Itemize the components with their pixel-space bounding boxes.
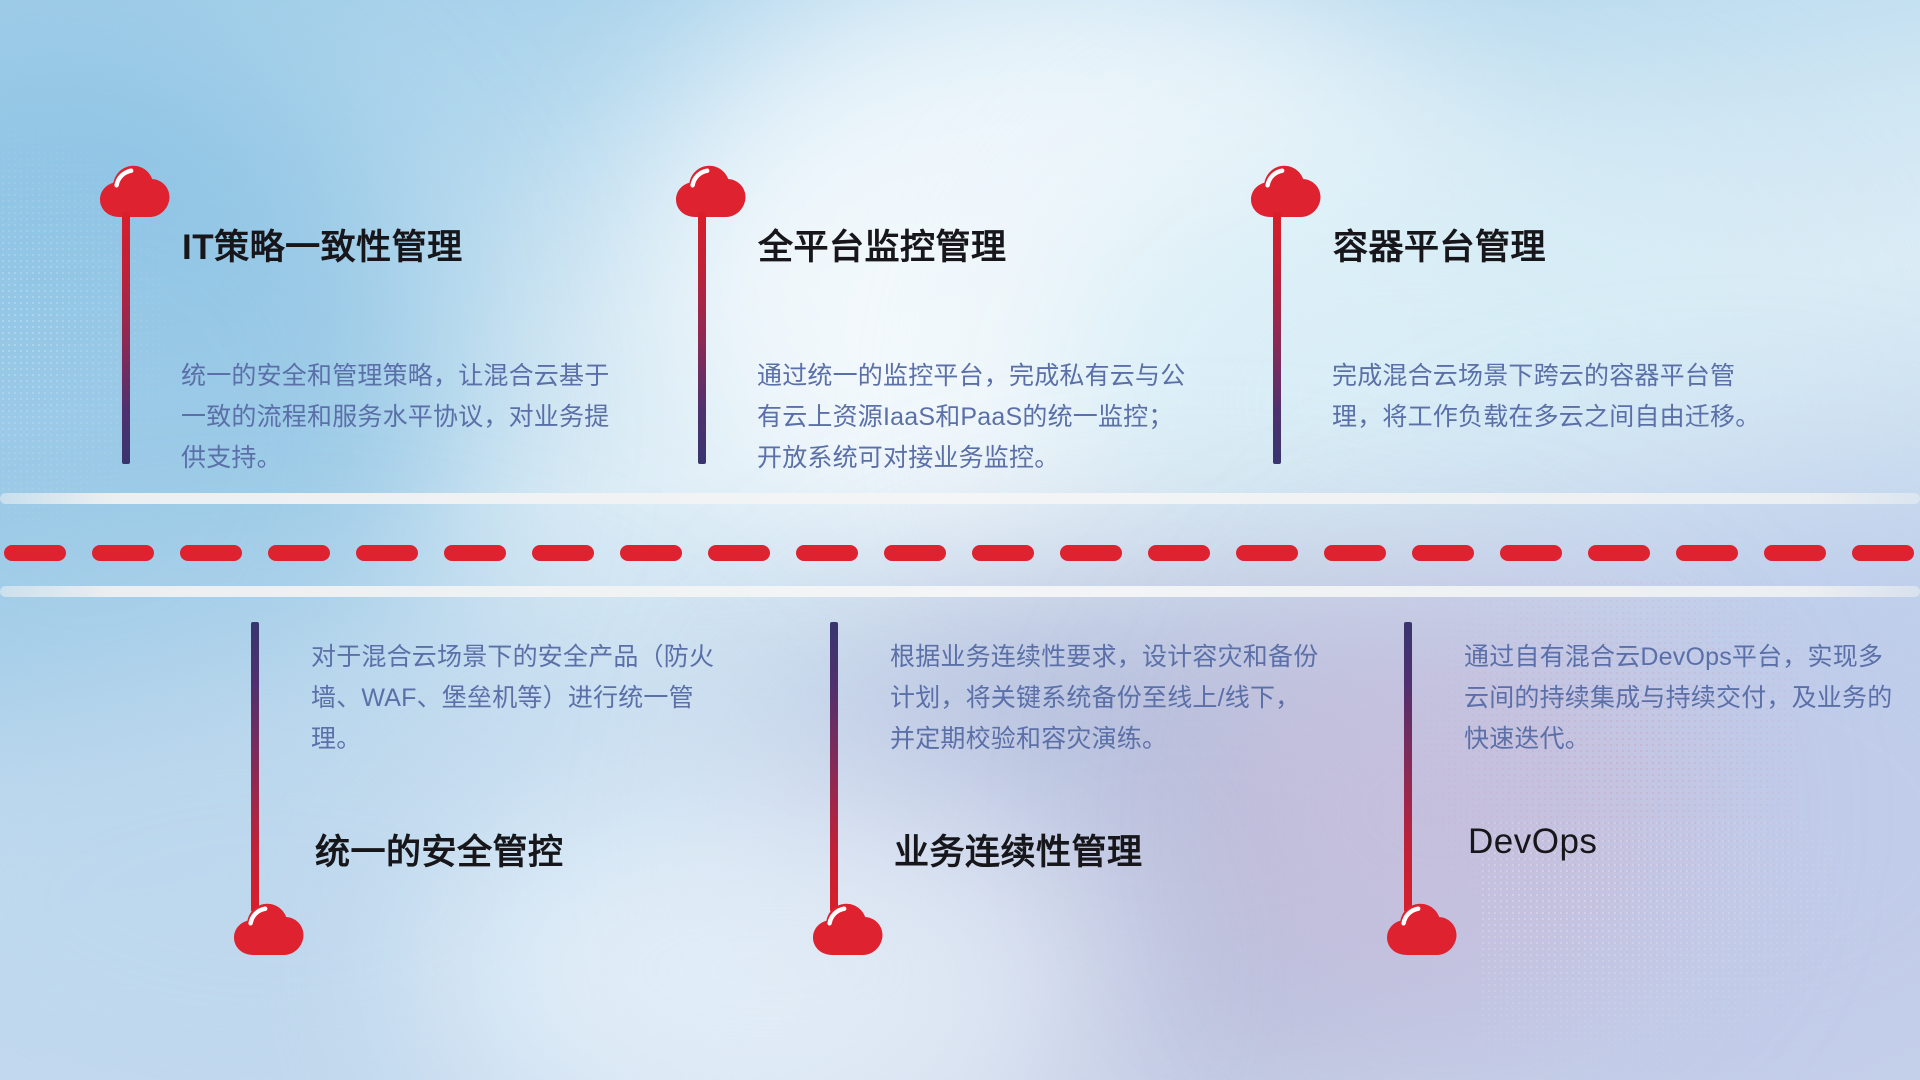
divider-dash	[532, 545, 594, 561]
stem-connector	[122, 212, 130, 464]
divider-dash	[884, 545, 946, 561]
card-heading: DevOps	[1468, 822, 1597, 862]
card-body: 通过统一的监控平台，完成私有云与公有云上资源IaaS和PaaS的统一监控；开放系…	[757, 356, 1189, 479]
divider-dash	[356, 545, 418, 561]
divider-dash	[4, 545, 66, 561]
divider-dash	[1148, 545, 1210, 561]
cloud-icon	[1250, 161, 1322, 219]
divider-edge-bottom	[0, 586, 1920, 597]
stem-connector	[830, 622, 838, 912]
cloud-icon	[812, 899, 884, 957]
divider-dash	[92, 545, 154, 561]
divider-dash	[268, 545, 330, 561]
divider-dash	[444, 545, 506, 561]
divider-dash	[1852, 545, 1914, 561]
cloud-icon	[675, 161, 747, 219]
divider-dash	[1236, 545, 1298, 561]
divider-dash	[620, 545, 682, 561]
divider-dash	[708, 545, 770, 561]
stem-connector	[251, 622, 259, 912]
divider-dash	[1588, 545, 1650, 561]
card-body: 完成混合云场景下跨云的容器平台管理，将工作负载在多云之间自由迁移。	[1332, 356, 1764, 438]
divider-dash	[1500, 545, 1562, 561]
divider-dash	[1676, 545, 1738, 561]
card-body: 通过自有混合云DevOps平台，实现多云间的持续集成与持续交付，及业务的快速迭代…	[1464, 637, 1896, 760]
divider-dash	[180, 545, 242, 561]
card-body: 统一的安全和管理策略，让混合云基于一致的流程和服务水平协议，对业务提供支持。	[181, 356, 613, 479]
divider-dash	[1412, 545, 1474, 561]
card-body: 对于混合云场景下的安全产品（防火墙、WAF、堡垒机等）进行统一管理。	[311, 637, 743, 760]
stem-connector	[698, 212, 706, 464]
stem-connector	[1404, 622, 1412, 912]
card-heading: 统一的安全管控	[315, 824, 564, 875]
card-heading: 容器平台管理	[1333, 219, 1546, 270]
card-heading: 业务连续性管理	[894, 824, 1143, 875]
card-body: 根据业务连续性要求，设计容灾和备份计划，将关键系统备份至线上/线下，并定期校验和…	[890, 637, 1322, 760]
stem-connector	[1273, 212, 1281, 464]
divider-dash	[1060, 545, 1122, 561]
divider-dash	[1324, 545, 1386, 561]
cloud-icon	[1386, 899, 1458, 957]
cloud-icon	[233, 899, 305, 957]
card-heading: 全平台监控管理	[758, 219, 1007, 270]
cloud-icon	[99, 161, 171, 219]
divider-dash	[1764, 545, 1826, 561]
card-heading: IT策略一致性管理	[182, 219, 463, 270]
infographic-canvas: IT策略一致性管理 统一的安全和管理策略，让混合云基于一致的流程和服务水平协议，…	[0, 0, 1920, 1080]
divider-dash	[796, 545, 858, 561]
divider-dash	[972, 545, 1034, 561]
divider-edge-top	[0, 493, 1920, 504]
divider-dashes	[0, 544, 1920, 561]
